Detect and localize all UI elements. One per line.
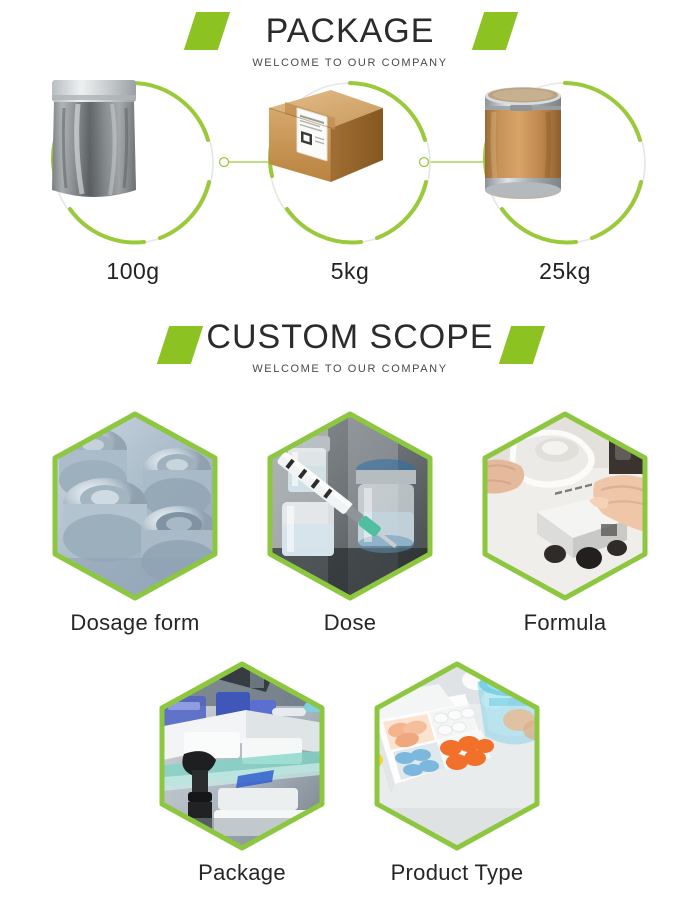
package-title: PACKAGE	[0, 14, 700, 48]
hex-dosage-form	[47, 408, 223, 604]
scope-item-dosage-form[interactable]: Dosage form	[35, 408, 235, 636]
package-item-25kg[interactable]: 25kg	[465, 78, 665, 285]
package-subtitle: WELCOME TO OUR COMPANY	[0, 57, 700, 69]
scope-label-package: Package	[142, 860, 342, 886]
carton-box-icon	[265, 78, 435, 248]
scope-label-dose: Dose	[250, 610, 450, 636]
custom-scope-section-header: CUSTOM SCOPE WELCOME TO OUR COMPANY	[0, 320, 700, 375]
package-circle-2	[265, 78, 435, 248]
hex-product-type	[369, 658, 545, 854]
package-label-3: 25kg	[465, 258, 665, 285]
foil-pouch-icon	[48, 78, 218, 248]
package-label-2: 5kg	[250, 258, 450, 285]
scope-item-package[interactable]: Package	[142, 658, 342, 886]
package-section-header: PACKAGE WELCOME TO OUR COMPANY	[0, 0, 700, 69]
scope-item-dose[interactable]: Dose	[250, 408, 450, 636]
hex-dose	[262, 408, 438, 604]
scope-label-product-type: Product Type	[357, 860, 557, 886]
package-circle-3	[480, 78, 650, 248]
package-items-row: 100g	[0, 78, 700, 288]
package-item-100g[interactable]: 100g	[33, 78, 233, 285]
hex-formula	[477, 408, 653, 604]
custom-scope-title: CUSTOM SCOPE	[0, 320, 700, 354]
scope-item-formula[interactable]: Formula	[465, 408, 665, 636]
fiber-drum-icon	[480, 78, 650, 248]
package-item-5kg[interactable]: 5kg	[250, 78, 450, 285]
custom-scope-subtitle: WELCOME TO OUR COMPANY	[0, 363, 700, 375]
scope-label-formula: Formula	[465, 610, 665, 636]
package-label-1: 100g	[33, 258, 233, 285]
package-circle-1	[48, 78, 218, 248]
hex-package	[154, 658, 330, 854]
scope-item-product-type[interactable]: Product Type	[357, 658, 557, 886]
scope-label-dosage-form: Dosage form	[35, 610, 235, 636]
